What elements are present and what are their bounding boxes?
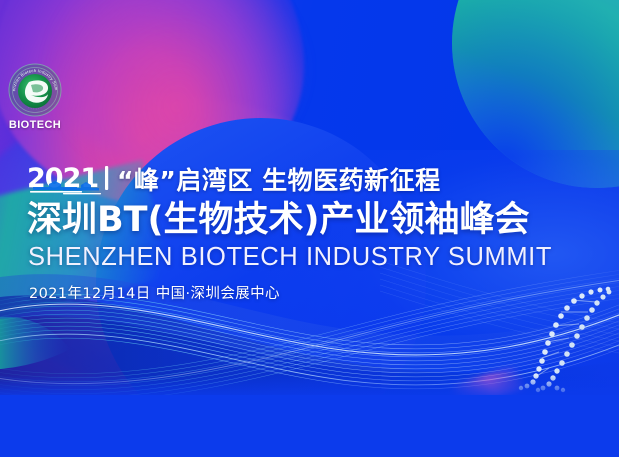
tagline-text: “峰”启湾区 生物医药新征程 [117,166,441,196]
event-date-venue: 2021年12月14日 中国·深圳会展中心 [29,285,607,304]
poster-subheadline: SHENZHEN BIOTECH INDUSTRY SUMMIT [28,242,607,272]
event-poster: Shenzhen Biotech Industry Summit · · · ·… [0,0,619,457]
tagline: 2021 “峰”启湾区 生物医药新征程 [27,160,607,196]
foot-band [0,395,619,457]
biotech-wordmark: BIOTECH [4,119,66,131]
poster-text-block: 2021 “峰”启湾区 生物医药新征程 深圳BT(生物技术)产业领袖峰会 SHE… [27,160,607,304]
stylized-2021-with-convention-center-silhouette: 2021 [27,162,113,196]
biotech-circular-emblem: Shenzhen Biotech Industry Summit · · · ·… [7,62,63,118]
biotech-logo[interactable]: Shenzhen Biotech Industry Summit · · · ·… [4,62,66,134]
poster-headline: 深圳BT(生物技术)产业领袖峰会 [27,200,607,240]
